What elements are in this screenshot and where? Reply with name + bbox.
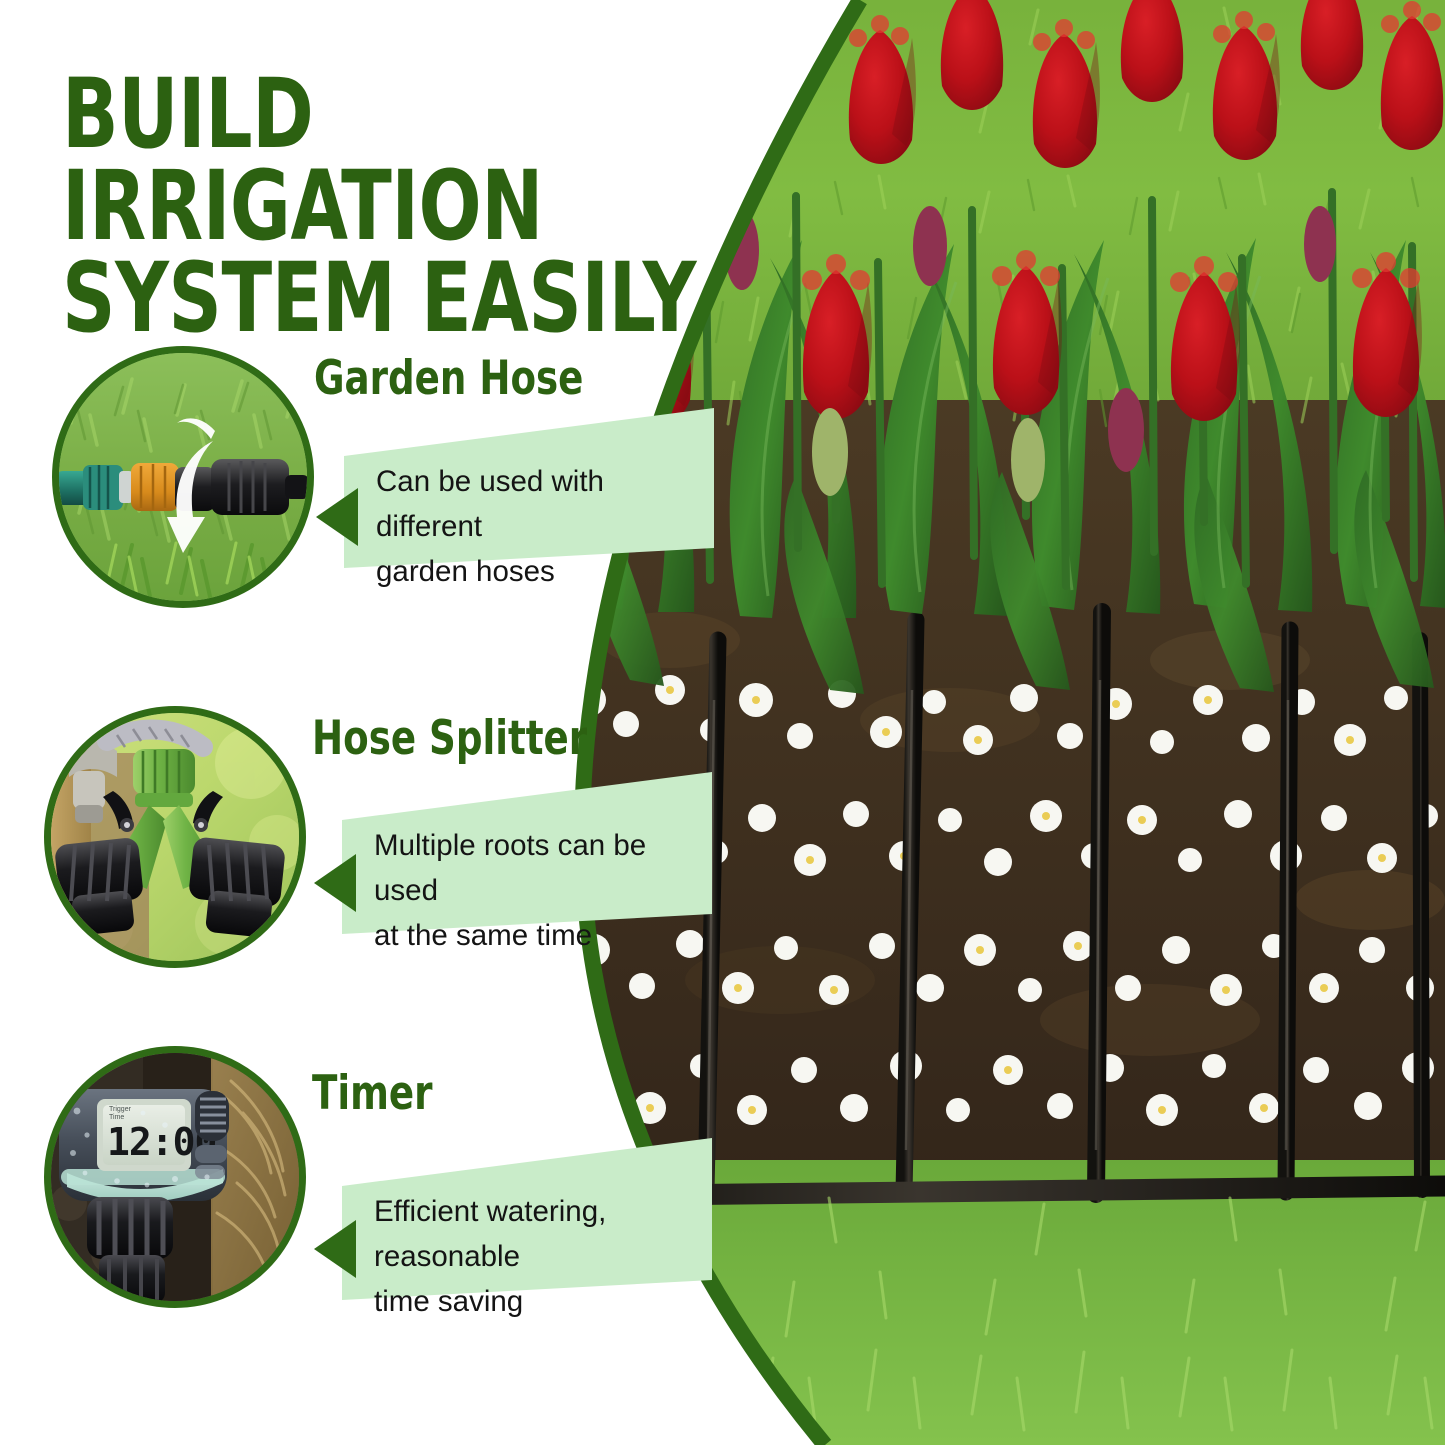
feature-timer: Trigger Time 12:00 xyxy=(44,1046,704,1318)
callout-timer: Efficient watering, reasonable time savi… xyxy=(282,1138,712,1306)
callout-arrow-icon xyxy=(312,1218,358,1280)
y-splitter-photo xyxy=(44,706,306,968)
callout-text-garden-hose: Can be used with different garden hoses xyxy=(376,460,716,594)
infographic-canvas: BUILD IRRIGATION SYSTEM EASILY xyxy=(0,0,1445,1445)
feature-heading-garden-hose: Garden Hose xyxy=(314,355,583,402)
hose-connector-photo xyxy=(52,346,314,608)
callout-garden-hose: Can be used with different garden hoses xyxy=(284,408,714,574)
feature-garden-hose: Garden Hose Can be used with different g… xyxy=(52,346,712,616)
callout-text-timer: Efficient watering, reasonable time savi… xyxy=(374,1190,720,1324)
callout-arrow-icon xyxy=(314,486,360,548)
feature-heading-hose-splitter: Hose Splitter xyxy=(312,715,587,762)
svg-text:Trigger: Trigger xyxy=(109,1106,132,1113)
page-title: BUILD IRRIGATION SYSTEM EASILY xyxy=(62,68,724,344)
feature-heading-timer: Timer xyxy=(312,1070,433,1117)
callout-text-hose-splitter: Multiple roots can be used at the same t… xyxy=(374,824,714,958)
callout-arrow-icon xyxy=(312,852,358,914)
water-timer-photo: Trigger Time 12:00 xyxy=(44,1046,306,1308)
callout-hose-splitter: Multiple roots can be used at the same t… xyxy=(282,772,712,940)
feature-hose-splitter: Hose Splitter Multiple roots can be used… xyxy=(44,706,704,978)
